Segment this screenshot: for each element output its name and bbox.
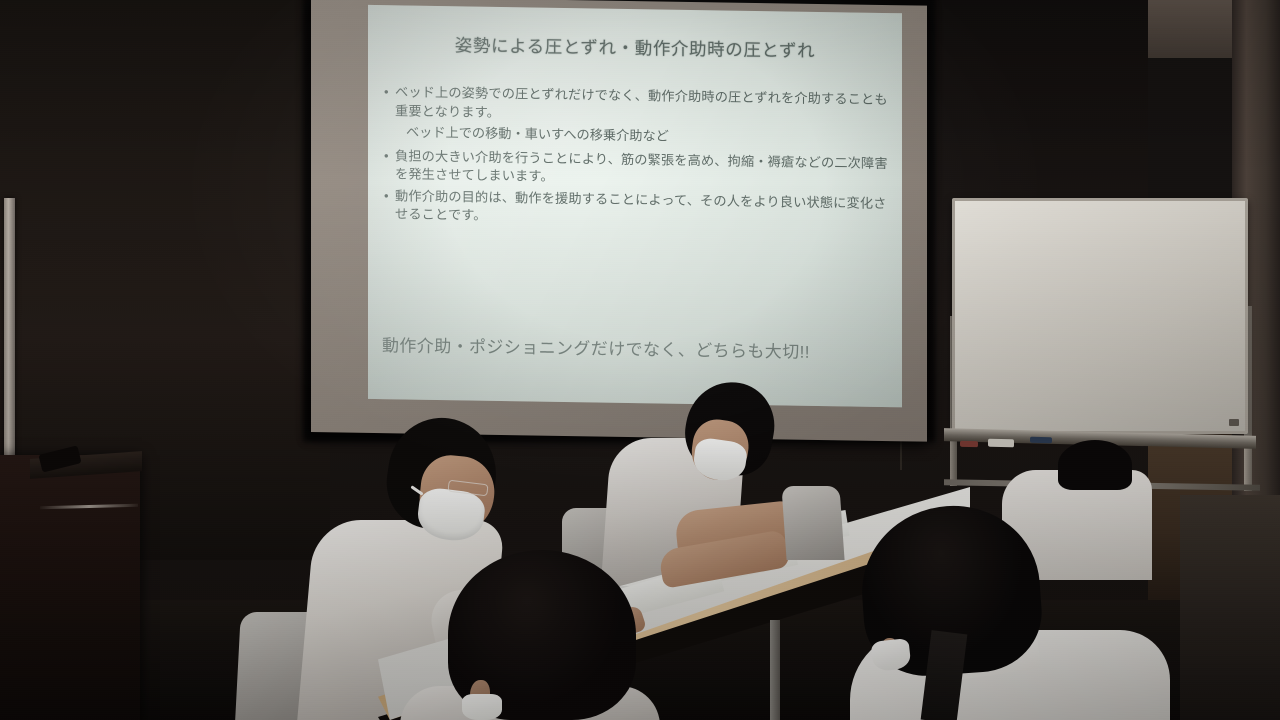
red-marker-icon [960,441,978,447]
table-leg [770,620,780,720]
whiteboard-panel [952,198,1248,434]
blue-marker-icon [1030,437,1052,444]
slide-bullet-item: • 動作介助の目的は、動作を援助することによって、その人をより良い状態に変化させ… [384,187,888,232]
slide-bullet-list: • ベッド上の姿勢での圧とずれだけでなく、動作介助時の圧とずれを介助することも重… [384,83,888,234]
presentation-slide: 姿勢による圧とずれ・動作介助時の圧とずれ • ベッド上の姿勢での圧とずれだけでな… [368,5,902,407]
bullet-marker-icon: • [384,83,395,102]
bullet-marker-icon: • [384,187,395,206]
chair-back-right [781,486,844,560]
lecture-room-photo: 姿勢による圧とずれ・動作介助時の圧とずれ • ベッド上の姿勢での圧とずれだけでな… [0,0,1280,720]
slide-bullet-item: • ベッド上の姿勢での圧とずれだけでなく、動作介助時の圧とずれを介助することも重… [384,83,888,128]
wall-upper-right [1148,0,1234,60]
lectern [0,455,140,720]
floor [1180,495,1280,720]
whiteboard-surface [955,201,1245,431]
slide-title: 姿勢による圧とずれ・動作介助時の圧とずれ [368,31,902,64]
eraser-icon [988,439,1014,448]
slide-bullet-text: 負担の大きい介助を行うことにより、筋の緊張を高め、拘縮・褥瘡などの二次障害を発生… [395,147,888,192]
slide-bullet-item: • 負担の大きい介助を行うことにより、筋の緊張を高め、拘縮・褥瘡などの二次障害を… [384,147,888,192]
slide-bullet-text: 動作介助の目的は、動作を援助することによって、その人をより良い状態に変化させるこ… [395,187,888,232]
wall-light-strip [4,198,15,498]
student-far-right-head [1058,440,1132,490]
projection-screen: 姿勢による圧とずれ・動作介助時の圧とずれ • ベッド上の姿勢での圧とずれだけでな… [311,0,927,442]
slide-footer-text: 動作介助・ポジショニングだけでなく、どちらも大切!! [382,335,896,365]
whiteboard-corner-clip [1229,419,1239,426]
face-mask-icon [462,694,502,720]
slide-bullet-text: ベッド上の姿勢での圧とずれだけでなく、動作介助時の圧とずれを介助することも重要と… [395,83,888,128]
slide-sub-text: ベッド上での移動・車いすへの移乗介助など [406,123,888,149]
bullet-marker-icon: • [384,147,395,166]
wall-recess-right [1148,58,1234,218]
